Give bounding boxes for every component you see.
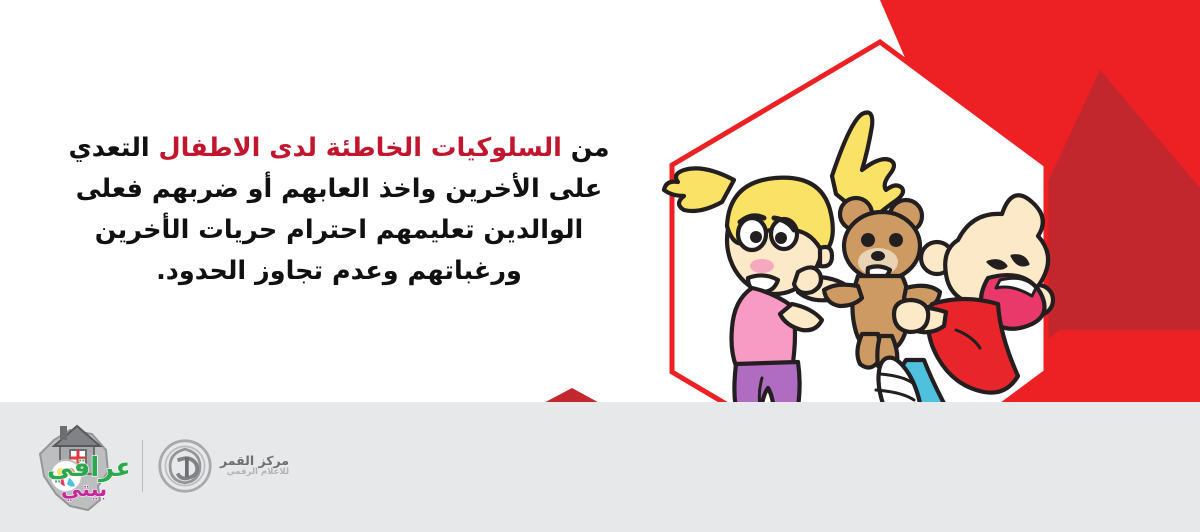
teddy-nose xyxy=(871,251,885,261)
message-line-1-seg-1: من xyxy=(562,133,610,163)
teddy-arm-left xyxy=(824,285,862,306)
message-line-2: على الأخرين واخذ العابهم أو ضربهم فعلى xyxy=(34,169,644,210)
baiti-iraqi-logo[interactable]: عراقي بيتي xyxy=(18,414,128,518)
awareness-banner: من السلوكيات الخاطئة لدى الاطفال التعدي … xyxy=(0,0,1200,532)
footer-logos: عراقي بيتي مركز القمر للاعلام الرقمي xyxy=(18,412,289,520)
girl-cheek xyxy=(750,259,774,273)
message-line-3: الوالدين تعليمهم احترام حريات الأخرين xyxy=(34,210,644,251)
message-line-1: من السلوكيات الخاطئة لدى الاطفال التعدي xyxy=(34,128,644,169)
message-line-4: ورغباتهم وعدم تجاوز الحدود. xyxy=(34,251,644,292)
girl-hand-upper xyxy=(794,267,821,293)
message-line-1-highlight: السلوكيات الخاطئة لدى الاطفال xyxy=(159,133,562,163)
house-chimney xyxy=(60,426,67,440)
qamar-title: مركز القمر xyxy=(220,454,289,468)
logo-divider xyxy=(142,440,143,492)
boy-hand xyxy=(894,300,928,332)
girl-ear xyxy=(820,247,832,266)
teddy-eye-right xyxy=(889,233,903,247)
girl-shirt xyxy=(732,288,796,370)
qamar-center-logo[interactable]: مركز القمر للاعلام الرقمي xyxy=(157,438,289,494)
qamar-subtitle: للاعلام الرقمي xyxy=(220,468,289,478)
qamar-mark-icon xyxy=(157,438,213,494)
logo-word-baiti: بيتي xyxy=(61,477,107,501)
message-text: من السلوكيات الخاطئة لدى الاطفال التعدي … xyxy=(34,128,644,292)
girl-pupil-left xyxy=(750,231,762,243)
girl-pigtail-left xyxy=(664,168,734,211)
teddy-eye-left xyxy=(861,233,875,247)
message-line-1-seg-3: التعدي xyxy=(68,133,158,163)
girl-pupil-right xyxy=(775,232,787,244)
